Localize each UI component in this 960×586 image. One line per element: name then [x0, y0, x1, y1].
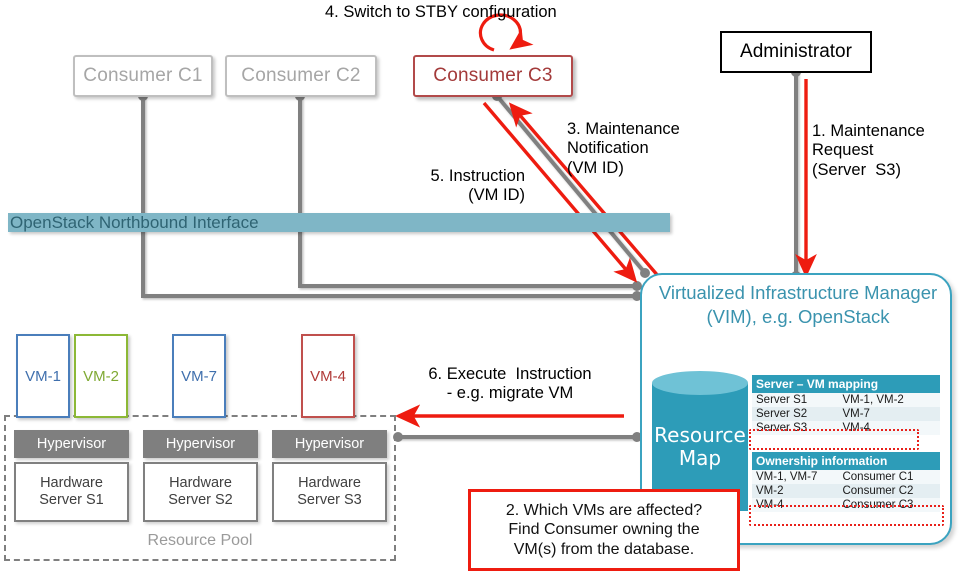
table-row: Server S2 VM-7 [752, 407, 940, 421]
annotation-step-5: 5. Instruction (VM ID) [385, 167, 525, 206]
vim-title: Virtualized Infrastructure Manager (VIM)… [648, 281, 948, 329]
server-vm-mapping-table: Server – VM mapping Server S1 VM-1, VM-2… [752, 375, 940, 435]
consumer-c2-label: Consumer C2 [241, 65, 360, 87]
resource-map-cylinder-top [652, 371, 748, 395]
diagram-canvas: Consumer C1 Consumer C2 Consumer C3 Admi… [0, 0, 960, 586]
ownership-information-header: Ownership information [752, 452, 940, 470]
vm-box-vm-1[interactable]: VM-1 [16, 334, 70, 418]
cell-server-s2: Server S2 [752, 407, 838, 421]
consumer-c3-label: Consumer C3 [433, 65, 552, 87]
hypervisor-s3[interactable]: Hypervisor [272, 430, 387, 458]
resource-pool-label: Resource Pool [4, 532, 396, 550]
vm-box-vm-2[interactable]: VM-2 [74, 334, 128, 418]
resource-map-label-line1: Resource [648, 424, 752, 447]
table-row: Server S3 VM-4 [752, 421, 940, 435]
vm-box-vm-7[interactable]: VM-7 [172, 334, 226, 418]
cell-owner-c3: Consumer C3 [838, 498, 940, 512]
server-vm-mapping-header: Server – VM mapping [752, 375, 940, 393]
vm-box-vm-4[interactable]: VM-4 [301, 334, 355, 418]
annotation-step-6: 6. Execute Instruction - e.g. migrate VM [400, 365, 620, 404]
vm-1-label: VM-1 [25, 368, 61, 385]
cell-server-s1-vms: VM-1, VM-2 [838, 393, 940, 407]
annotation-step-1: 1. Maintenance Request (Server S3) [812, 122, 925, 180]
hardware-server-s2-label: Hardware Server S2 [168, 475, 232, 509]
table-row: Server S1 VM-1, VM-2 [752, 393, 940, 407]
hypervisor-s2[interactable]: Hypervisor [143, 430, 258, 458]
cell-owner-c1: Consumer C1 [838, 470, 940, 484]
hardware-server-s1-label: Hardware Server S1 [39, 475, 103, 509]
table-row: VM-1, VM-7 Consumer C1 [752, 470, 940, 484]
callout-step-2-text: 2. Which VMs are affected? Find Consumer… [506, 501, 702, 559]
hypervisor-s1[interactable]: Hypervisor [14, 430, 129, 458]
cell-owner-vms-c3: VM-4 [752, 498, 838, 512]
cell-server-s2-vms: VM-7 [838, 407, 940, 421]
ownership-information-table: Ownership information VM-1, VM-7 Consume… [752, 452, 940, 512]
hardware-server-s1[interactable]: Hardware Server S1 [14, 462, 129, 522]
hypervisor-s2-label: Hypervisor [166, 436, 235, 452]
consumer-c1-label: Consumer C1 [83, 65, 202, 87]
ownership-information-table-wrap: Ownership information VM-1, VM-7 Consume… [752, 452, 940, 512]
cell-owner-vms-c1: VM-1, VM-7 [752, 470, 838, 484]
openstack-northbound-label: OpenStack Northbound Interface [10, 212, 410, 234]
administrator-label: Administrator [740, 41, 852, 63]
hardware-server-s3[interactable]: Hardware Server S3 [272, 462, 387, 522]
cell-owner-vms-c2: VM-2 [752, 484, 838, 498]
vim-title-line1: Virtualized Infrastructure Manager [648, 281, 948, 305]
cell-server-s3: Server S3 [752, 421, 838, 435]
hardware-server-s2[interactable]: Hardware Server S2 [143, 462, 258, 522]
annotation-step-4: 4. Switch to STBY configuration [325, 3, 557, 22]
consumer-c1-box[interactable]: Consumer C1 [73, 55, 213, 97]
cell-server-s1: Server S1 [752, 393, 838, 407]
table-header-row: Ownership information [752, 452, 940, 470]
vm-7-label: VM-7 [181, 368, 217, 385]
vim-title-line2: (VIM), e.g. OpenStack [648, 305, 948, 329]
annotation-step-3: 3. Maintenance Notification (VM ID) [567, 120, 680, 178]
callout-step-2: 2. Which VMs are affected? Find Consumer… [468, 489, 740, 571]
table-header-row: Server – VM mapping [752, 375, 940, 393]
table-row: VM-2 Consumer C2 [752, 484, 940, 498]
hypervisor-s1-label: Hypervisor [37, 436, 106, 452]
cell-server-s3-vms: VM-4 [838, 421, 940, 435]
table-row: VM-4 Consumer C3 [752, 498, 940, 512]
resource-map-label: Resource Map [648, 424, 752, 470]
resource-map-label-line2: Map [648, 447, 752, 470]
administrator-box[interactable]: Administrator [720, 31, 872, 73]
vm-4-label: VM-4 [310, 368, 346, 385]
consumer-c2-box[interactable]: Consumer C2 [225, 55, 377, 97]
vm-2-label: VM-2 [83, 368, 119, 385]
consumer-c3-box[interactable]: Consumer C3 [413, 55, 573, 97]
server-vm-mapping-table-wrap: Server – VM mapping Server S1 VM-1, VM-2… [752, 375, 940, 435]
hardware-server-s3-label: Hardware Server S3 [297, 475, 361, 509]
hypervisor-s3-label: Hypervisor [295, 436, 364, 452]
cell-owner-c2: Consumer C2 [838, 484, 940, 498]
